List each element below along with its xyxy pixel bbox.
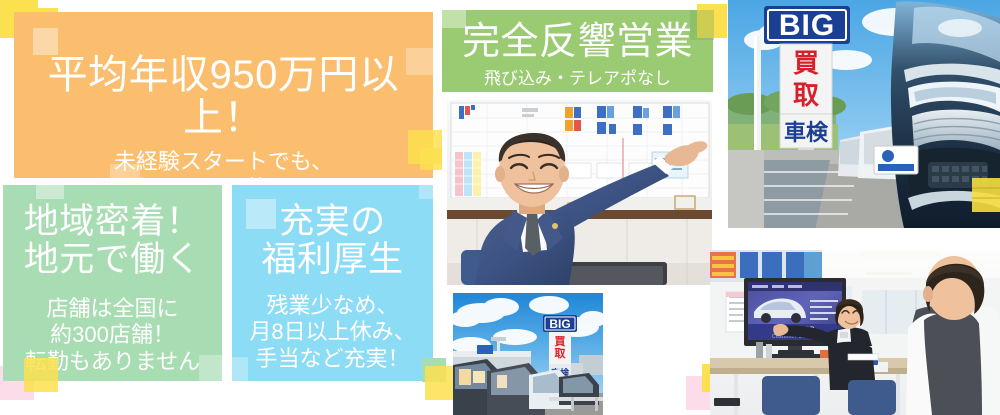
decor-square-yellow-local-bottomleft [24,358,58,392]
panel-benefits-headline: 充実の 福利厚生 [261,203,403,279]
svg-text:車検: 車検 [784,121,829,146]
panel-salary-headline: 平均年収950万円以上！ [14,54,433,140]
photo-dealership-sign-art: BIG 買 取 車検 [728,0,1000,228]
panel-response-sales: 完全反響営業 飛び込み・テレアポなし [442,10,713,92]
panel-local-roots: 地域密着！ 地元で働く 店舗は全国に 約300店舗！ 転勤もありません [3,185,222,381]
panel-local-headline: 地域密着！ 地元で働く [24,203,202,279]
decor-square-inside-local-top [36,185,64,199]
photo-staff-whiteboard-art [447,100,712,285]
svg-text:取: 取 [793,81,819,111]
panel-benefits-subtext: 残業少なめ、 月8日以上休み、 手当など充実！ [249,293,415,373]
svg-text:取: 取 [555,347,566,360]
svg-text:BIG: BIG [779,9,835,42]
recruitment-banner: 平均年収950万円以上！ 未経験スタートでも、 月収70万円可能です！ 地域密着… [0,0,1000,415]
decor-square-inside-local-bottomright [199,355,222,381]
decor-square-inside-salary-topleft [33,28,58,55]
photo-staff-whiteboard [447,100,712,285]
panel-response-headline: 完全反響営業 [462,22,693,63]
panel-salary: 平均年収950万円以上！ 未経験スタートでも、 月収70万円可能です！ [14,12,433,178]
svg-text:買: 買 [793,49,819,79]
decor-square-yellow-salary-overlap [420,148,442,170]
panel-response-subtext: 飛び込み・テレアポなし [484,69,671,90]
photo-car-lot: BIG 買 取 車検 [453,293,603,415]
decor-square-inside-response-topleft [442,10,466,28]
panel-benefits: 充実の 福利厚生 残業少なめ、 月8日以上休み、 手当など充実！ [232,185,433,381]
photo-car-lot-art: BIG 買 取 車検 [453,293,603,415]
panel-salary-subtext: 未経験スタートでも、 月収70万円可能です！ [112,149,334,178]
decor-square-inside-salary-bottomleft [110,164,140,178]
decor-square-inside-benefits-topleft [246,199,276,229]
photo-dealership-sign: BIG 買 取 車検 [728,0,1000,228]
decor-square-inside-benefits-bottomleft [232,357,248,381]
decor-square-inside-salary-right [406,48,433,75]
svg-text:BIG: BIG [549,317,570,331]
decor-square-inside-benefits-topright [419,185,433,199]
photo-showroom-counter: BIG MOTOR Customer Service [710,250,1000,415]
decor-square-green-response-topright [690,10,714,40]
photo-showroom-counter-art: BIG MOTOR Customer Service [710,250,1000,415]
